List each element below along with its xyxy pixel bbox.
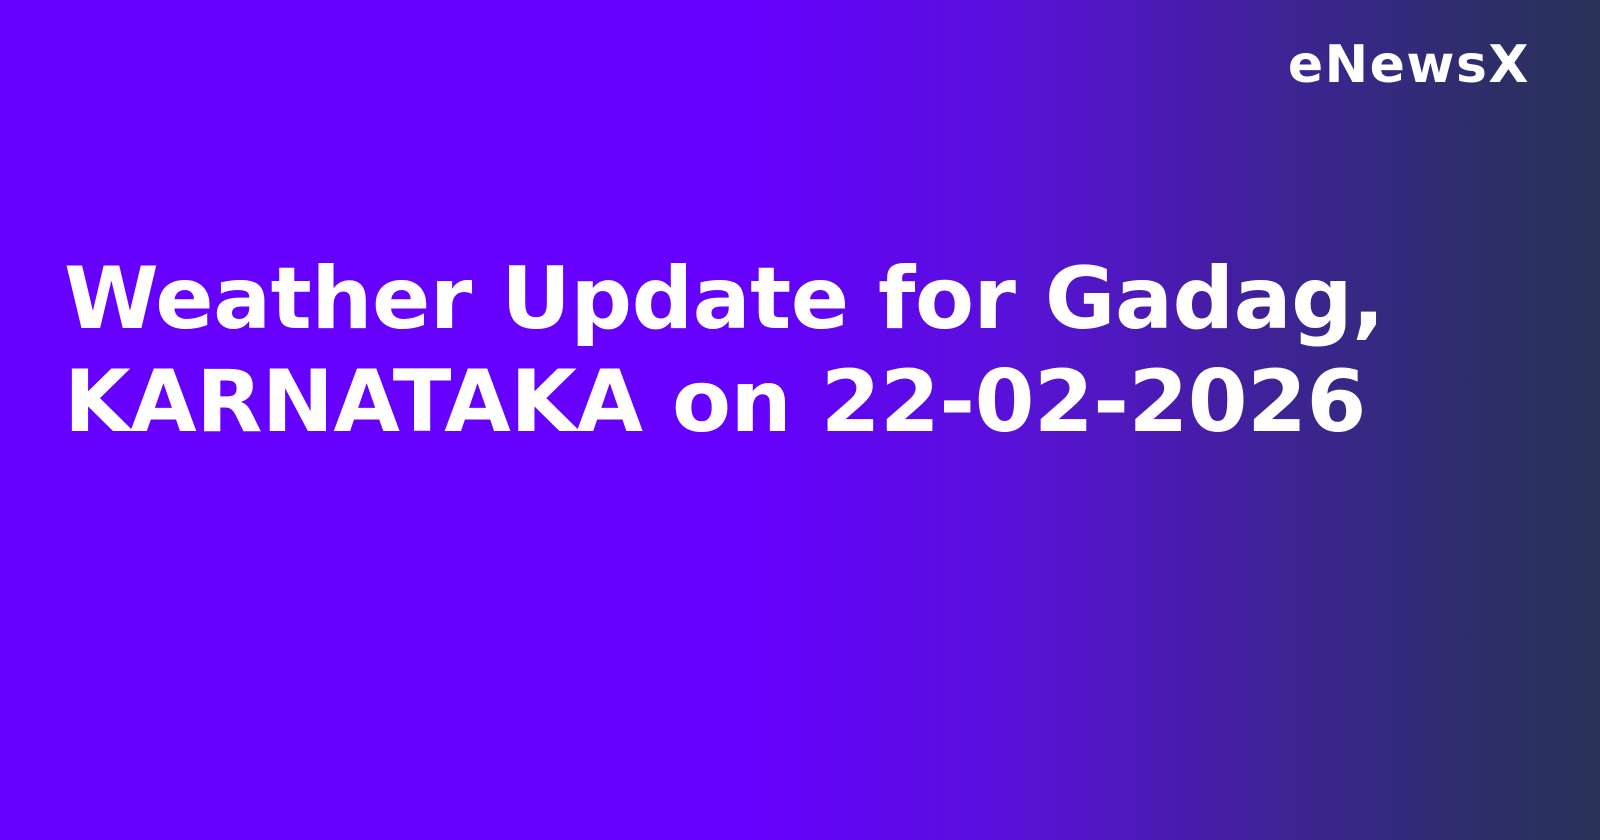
weather-news-banner: eNewsX Weather Update for Gadag, KARNATA… — [0, 0, 1600, 840]
enewsx-logo[interactable]: eNewsX — [1288, 39, 1530, 91]
page-title: Weather Update for Gadag, KARNATAKA on 2… — [64, 248, 1420, 454]
headline-block: Weather Update for Gadag, KARNATAKA on 2… — [0, 248, 1420, 454]
brand-header: eNewsX — [0, 0, 1600, 130]
